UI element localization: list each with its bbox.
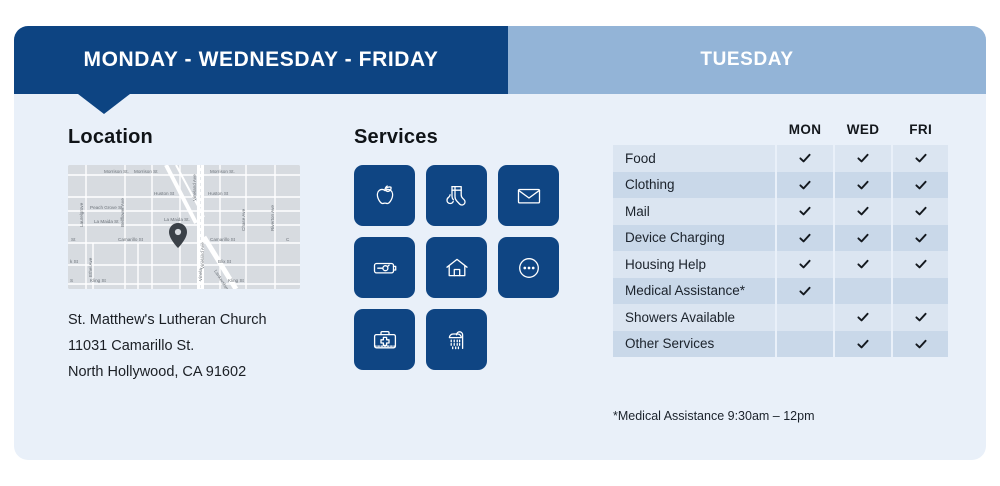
- socks-icon: [442, 181, 472, 211]
- check-icon: [893, 257, 948, 271]
- svg-text:La Maida St: La Maida St: [94, 219, 119, 224]
- tab-mon-wed-fri[interactable]: MONDAY - WEDNESDAY - FRIDAY: [14, 26, 508, 94]
- shower-icon: [442, 325, 472, 355]
- header-mon: MON: [777, 122, 832, 145]
- table-row: Clothing: [613, 172, 948, 199]
- service-label: Showers Available: [613, 304, 775, 331]
- check-icon: [835, 204, 890, 218]
- svg-text:St: St: [71, 237, 76, 242]
- service-tile-clothing[interactable]: [426, 165, 487, 226]
- cell-mon: [777, 198, 832, 225]
- check-icon: [777, 151, 832, 165]
- svg-text:Morrison St.: Morrison St.: [210, 169, 235, 174]
- cell-fri: [893, 225, 948, 252]
- address-line-1: St. Matthew's Lutheran Church: [68, 307, 318, 333]
- svg-text:Riverton Ave: Riverton Ave: [270, 205, 275, 231]
- check-icon: [777, 178, 832, 192]
- service-tile-showers[interactable]: [426, 309, 487, 370]
- header-service-column: [613, 122, 775, 145]
- svg-text:Laurelgrove: Laurelgrove: [79, 202, 84, 227]
- check-icon: [835, 178, 890, 192]
- check-icon: [835, 337, 890, 351]
- service-label: Food: [613, 145, 775, 172]
- cell-wed: [835, 198, 890, 225]
- cell-fri: [893, 304, 948, 331]
- check-icon: [777, 284, 832, 298]
- table-header-row: MON WED FRI: [613, 122, 948, 145]
- services-icon-grid: [354, 165, 561, 370]
- cell-wed: [835, 278, 890, 305]
- medical-assistance-footnote: *Medical Assistance 9:30am – 12pm: [613, 409, 963, 423]
- service-label: Medical Assistance*: [613, 278, 775, 305]
- svg-text:Camarillo St: Camarillo St: [118, 237, 144, 242]
- check-icon: [835, 151, 890, 165]
- svg-text:Vineland Ave: Vineland Ave: [192, 174, 197, 201]
- table-row: Other Services: [613, 331, 948, 358]
- apple-icon: [370, 181, 400, 211]
- cell-fri: [893, 278, 948, 305]
- check-icon: [893, 231, 948, 245]
- service-label: Clothing: [613, 172, 775, 199]
- cell-mon: [777, 304, 832, 331]
- cell-wed: [835, 172, 890, 199]
- table-row: Mail: [613, 198, 948, 225]
- location-map[interactable]: Morrison St. Morrison St Morrison St. Hu…: [68, 165, 300, 289]
- service-tile-food[interactable]: [354, 165, 415, 226]
- svg-text:Morrison St: Morrison St: [134, 169, 158, 174]
- address-line-3: North Hollywood, CA 91602: [68, 359, 318, 385]
- service-tile-housing-help[interactable]: [426, 237, 487, 298]
- check-icon: [893, 151, 948, 165]
- svg-text:Vineland Ave: Vineland Ave: [200, 242, 205, 269]
- service-label: Mail: [613, 198, 775, 225]
- svg-text:Chase Ave: Chase Ave: [241, 208, 246, 231]
- table-row: Medical Assistance*: [613, 278, 948, 305]
- cell-wed: [835, 304, 890, 331]
- services-section: Services: [354, 126, 604, 370]
- header-fri: FRI: [893, 122, 948, 145]
- active-tab-pointer: [78, 94, 130, 114]
- location-title: Location: [68, 126, 318, 149]
- cell-fri: [893, 198, 948, 225]
- table-row: Food: [613, 145, 948, 172]
- service-label: Other Services: [613, 331, 775, 358]
- day-tab-bar: MONDAY - WEDNESDAY - FRIDAY TUESDAY: [14, 26, 986, 94]
- address-block: St. Matthew's Lutheran Church 11031 Cama…: [68, 307, 318, 385]
- tab-tuesday[interactable]: TUESDAY: [508, 26, 986, 94]
- check-icon: [835, 310, 890, 324]
- services-title: Services: [354, 126, 604, 149]
- svg-text:Ethel Ave: Ethel Ave: [88, 257, 93, 277]
- svg-text:La Maida St.: La Maida St.: [164, 217, 190, 222]
- cell-mon: [777, 225, 832, 252]
- table-row: Housing Help: [613, 251, 948, 278]
- table-row: Device Charging: [613, 225, 948, 252]
- check-icon: [777, 257, 832, 271]
- schedule-table-body: FoodClothingMailDevice ChargingHousing H…: [613, 145, 948, 357]
- cell-mon: [777, 172, 832, 199]
- schedule-section: MON WED FRI FoodClothingMailDevice Charg…: [613, 122, 963, 423]
- address-line-2: 11031 Camarillo St.: [68, 333, 318, 359]
- flyer-page: MONDAY - WEDNESDAY - FRIDAY TUESDAY Loca…: [0, 0, 1000, 486]
- svg-text:Kling St: Kling St: [90, 278, 107, 283]
- tab-tuesday-label: TUESDAY: [700, 49, 793, 71]
- cell-wed: [835, 225, 890, 252]
- schedule-table: MON WED FRI FoodClothingMailDevice Charg…: [613, 122, 948, 357]
- svg-text:Blix St: Blix St: [218, 259, 232, 264]
- check-icon: [777, 204, 832, 218]
- cell-mon: [777, 331, 832, 358]
- cell-fri: [893, 331, 948, 358]
- check-icon: [893, 337, 948, 351]
- circle-dots-icon: [514, 253, 544, 283]
- check-icon: [835, 257, 890, 271]
- envelope-icon: [514, 181, 544, 211]
- check-icon: [893, 178, 948, 192]
- service-tile-medical-assistance[interactable]: [354, 309, 415, 370]
- check-icon: [893, 310, 948, 324]
- service-label: Device Charging: [613, 225, 775, 252]
- cell-fri: [893, 145, 948, 172]
- header-wed: WED: [835, 122, 890, 145]
- cell-fri: [893, 172, 948, 199]
- cell-wed: [835, 145, 890, 172]
- cell-mon: [777, 145, 832, 172]
- map-graphic: Morrison St. Morrison St Morrison St. Hu…: [68, 165, 300, 289]
- svg-text:Peach Grove St.: Peach Grove St.: [90, 205, 124, 210]
- check-icon: [777, 231, 832, 245]
- svg-text:Bellflower Ave: Bellflower Ave: [120, 198, 125, 227]
- battery-charging-icon: [370, 253, 400, 283]
- service-tile-other-services[interactable]: [498, 237, 559, 298]
- table-row: Showers Available: [613, 304, 948, 331]
- svg-text:Huston St: Huston St: [208, 191, 229, 196]
- service-tile-device-charging[interactable]: [354, 237, 415, 298]
- svg-text:Huston St: Huston St: [154, 191, 175, 196]
- svg-text:S: S: [70, 278, 73, 283]
- first-aid-kit-icon: [370, 325, 400, 355]
- cell-fri: [893, 251, 948, 278]
- svg-text:Morrison St.: Morrison St.: [104, 169, 129, 174]
- svg-text:Kling St: Kling St: [228, 278, 245, 283]
- cell-mon: [777, 278, 832, 305]
- house-icon: [442, 253, 472, 283]
- service-tile-mail[interactable]: [498, 165, 559, 226]
- svg-text:Camarillo St: Camarillo St: [210, 237, 236, 242]
- location-section: Location: [68, 126, 318, 385]
- cell-mon: [777, 251, 832, 278]
- cell-wed: [835, 251, 890, 278]
- check-icon: [893, 204, 948, 218]
- schedule-panel: MONDAY - WEDNESDAY - FRIDAY TUESDAY Loca…: [14, 26, 986, 460]
- service-label: Housing Help: [613, 251, 775, 278]
- check-icon: [835, 231, 890, 245]
- cell-wed: [835, 331, 890, 358]
- svg-text:k St: k St: [70, 259, 79, 264]
- tab-mon-wed-fri-label: MONDAY - WEDNESDAY - FRIDAY: [84, 48, 439, 72]
